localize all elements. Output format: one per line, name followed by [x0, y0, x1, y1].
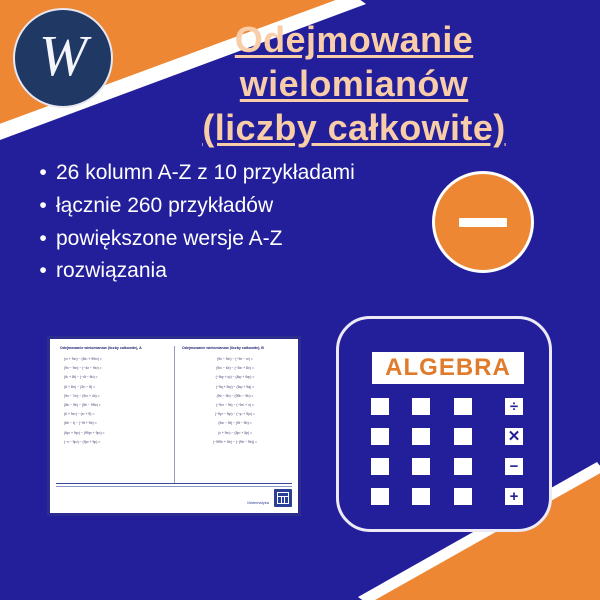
calculator-key[interactable] [412, 488, 430, 505]
calculator-key[interactable] [454, 488, 472, 505]
calculator-display-text: ALGEBRA [385, 354, 511, 382]
bullet-dot-icon: • [30, 224, 56, 254]
calculator-key[interactable] [454, 458, 472, 475]
worksheet-expression: (−x − 9p²) − (9p² + 9p) = [60, 440, 170, 444]
worksheet-expression: (9x − 9x²) − (−4x − 9x²) = [60, 366, 170, 370]
worksheet-expression: (5x² − 5t) − (9t − 9t²) = [182, 421, 288, 425]
worksheet-preview: Odejmowanie wielomianów (liczby całkowit… [47, 336, 301, 516]
calculator-graphic: ALGEBRA ÷ ✕ − + [336, 316, 552, 532]
multiply-icon[interactable]: ✕ [505, 428, 523, 445]
minus-badge [432, 171, 534, 273]
calculator-key[interactable] [454, 428, 472, 445]
calculator-key[interactable] [371, 398, 389, 415]
worksheet-expression: (−9q² + q²) − (8q² + 9q²) = [182, 375, 288, 379]
calculator-key[interactable] [371, 458, 389, 475]
worksheet-expression: (9t² − 9t²) − (99t² − 9t²) = [182, 394, 288, 398]
worksheet-expression: (9x − 9x²) − (−9x − x²) = [182, 357, 288, 361]
worksheet-expression: (x³ + 9x²) − (8x² + 99x²) = [60, 357, 170, 361]
bullet-dot-icon: • [30, 158, 56, 188]
worksheet-expression: (6p² + 9p²) − (99p² + 9p²) = [60, 431, 170, 435]
calculator-key[interactable] [454, 398, 472, 415]
worksheet-divider-thin [56, 486, 292, 487]
page-title: Odejmowanie wielomianów (liczby całkowit… [118, 18, 590, 150]
list-item-label: 26 kolumn A-Z z 10 przykładami [56, 158, 360, 188]
bullet-dot-icon: • [30, 191, 56, 221]
divide-icon[interactable]: ÷ [505, 398, 523, 415]
calculator-display: ALGEBRA [372, 352, 524, 384]
list-item: • powiększone wersje A-Z [30, 224, 360, 254]
worksheet-expression: (8t² − 9t²) − (5t² − 99t²) = [60, 403, 170, 407]
worksheet-column-a-header: Odejmowanie wielomianów (liczby całkowit… [60, 346, 170, 350]
calculator-key[interactable] [371, 488, 389, 505]
list-item: • łącznie 260 przykładów [30, 191, 360, 221]
worksheet-expression: (9x² − 6x) − (−5x² + 8x) = [182, 366, 288, 370]
worksheet-expression: (6 + 8r²) − (3r² − 8) = [60, 385, 170, 389]
list-item: • 26 kolumn A-Z z 10 przykładami [30, 158, 360, 188]
worksheet-column-b-header: Odejmowanie wielomianów (liczby całkowit… [182, 346, 288, 350]
minus-icon[interactable]: − [505, 458, 523, 475]
worksheet-expression: (9x − 7x²) − (9x² + 4x) = [60, 394, 170, 398]
calculator-key[interactable] [412, 458, 430, 475]
logo-monogram-letter: W [39, 27, 87, 85]
worksheet-column-b: Odejmowanie wielomianów (liczby całkowit… [174, 346, 292, 484]
plus-icon[interactable]: + [505, 488, 523, 505]
calculator-key[interactable] [371, 428, 389, 445]
worksheet-expression: (x + 9x²) − (5p² + 5p) = [182, 431, 288, 435]
worksheet-column-a: Odejmowanie wielomianów (liczby całkowit… [56, 346, 174, 484]
feature-list: • 26 kolumn A-Z z 10 przykładami • łączn… [30, 158, 360, 289]
worksheet-footer: Matematyka [56, 483, 292, 507]
worksheet-expression: (6 + 9x²) − (x² + 9) = [60, 412, 170, 416]
list-item-label: powiększone wersje A-Z [56, 224, 360, 254]
worksheet-expression: (6t² − t) − (−9t + 9t²) = [60, 421, 170, 425]
minus-icon [459, 218, 507, 227]
page-title-line-2: (liczby całkowite) [118, 106, 590, 150]
worksheet-expression: (6² + 8t) − (−4t − 6t²) = [60, 375, 170, 379]
worksheet-expression: (−9y² − 9y²) − (−y² + 9y²) = [182, 412, 288, 416]
calculator-key[interactable] [412, 428, 430, 445]
worksheet-expression: (−9x² − 9x) − (−9x² + x) = [182, 403, 288, 407]
worksheet-expression: (−999² + 9t²) − (−(9t² − 9t²)) = [182, 440, 288, 444]
calculator-key[interactable] [412, 398, 430, 415]
calculator-icon [274, 489, 292, 507]
worksheet-divider-thick [56, 483, 292, 485]
page-title-line-1: Odejmowanie wielomianów [235, 19, 473, 104]
brand-logo: W [13, 8, 113, 108]
calculator-keypad: ÷ ✕ − + [371, 398, 523, 508]
list-item-label: rozwiązania [56, 256, 360, 286]
bullet-dot-icon: • [30, 256, 56, 286]
list-item-label: łącznie 260 przykładów [56, 191, 360, 221]
worksheet-expression: (−9q + 9q²) − (5q² + 9q) = [182, 385, 288, 389]
worksheet-footer-label: Matematyka [247, 500, 269, 505]
list-item: • rozwiązania [30, 256, 360, 286]
slide-canvas: W Odejmowanie wielomianów (liczby całkow… [0, 0, 600, 600]
